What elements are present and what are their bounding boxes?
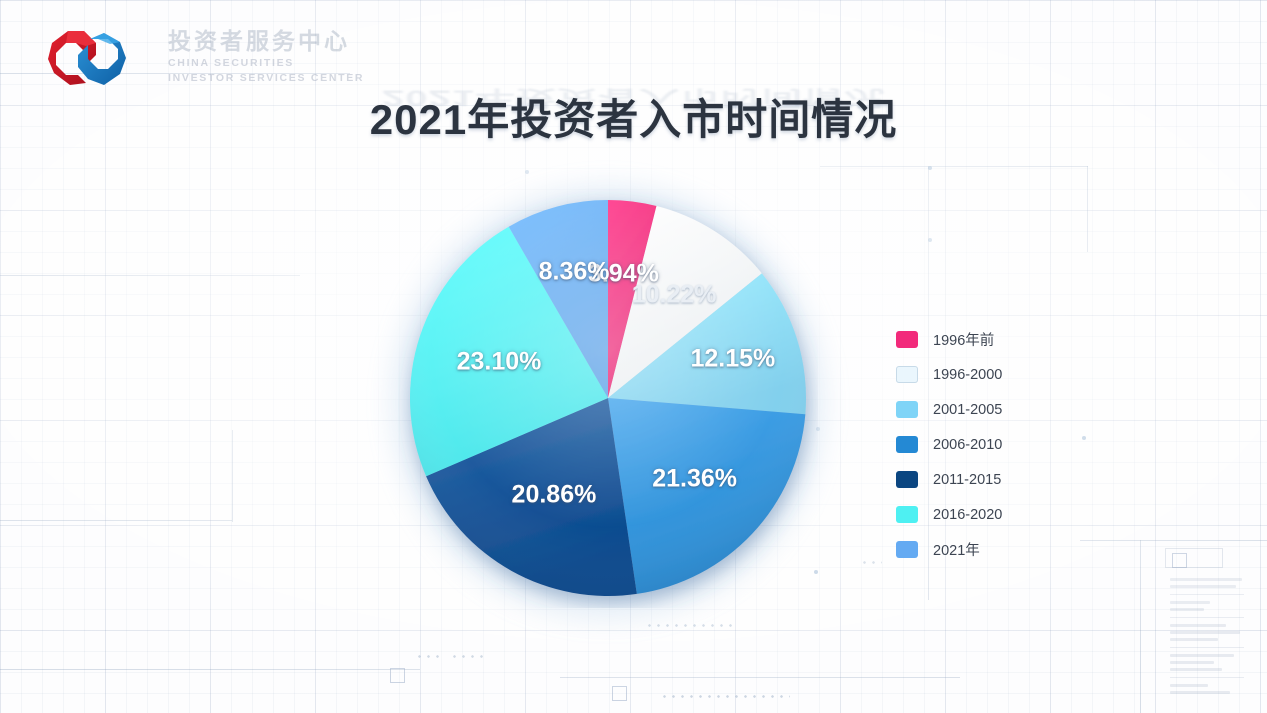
legend-color-swatch xyxy=(896,401,918,418)
background-dot-row-2 xyxy=(415,655,443,658)
legend-item-label: 2016-2020 xyxy=(933,507,1002,523)
legend-item[interactable]: 2021年 xyxy=(896,532,1076,567)
legend-color-swatch xyxy=(896,506,918,523)
legend-color-swatch xyxy=(896,331,918,348)
brand-name-en-line1: CHINA SECURITIES xyxy=(168,56,378,71)
background-checkbox-3 xyxy=(612,686,627,701)
background-line-v2 xyxy=(1087,166,1088,252)
csisc-logo-icon xyxy=(46,28,128,90)
background-line-v3 xyxy=(232,430,233,522)
pie-chart-svg[interactable] xyxy=(398,188,818,608)
legend-item[interactable]: 2016-2020 xyxy=(896,497,1076,532)
legend-item-label: 2021年 xyxy=(933,539,980,560)
background-line-h2 xyxy=(820,166,1088,167)
background-dot-row-4 xyxy=(860,561,882,564)
background-line-h5 xyxy=(0,669,420,670)
legend-item-label: 2006-2010 xyxy=(933,437,1002,453)
background-checkbox-1 xyxy=(1172,553,1187,568)
background-line-h4 xyxy=(0,520,232,521)
background-line-h6 xyxy=(560,677,960,678)
legend-item[interactable]: 1996-2000 xyxy=(896,357,1076,392)
background-line-h7 xyxy=(1080,540,1267,541)
legend-item[interactable]: 1996年前 xyxy=(896,322,1076,357)
background-dot-row-5 xyxy=(660,695,790,698)
legend-color-swatch xyxy=(896,471,918,488)
legend-color-swatch xyxy=(896,366,918,383)
legend-item-label: 1996年前 xyxy=(933,329,994,350)
background-dot-row-3 xyxy=(450,655,486,658)
background-line-v4 xyxy=(1140,540,1141,713)
pie-slice[interactable] xyxy=(608,398,805,594)
legend-color-swatch xyxy=(896,541,918,558)
legend-item-label: 2001-2005 xyxy=(933,402,1002,418)
background-node-4 xyxy=(1082,436,1086,440)
background-checkbox-2 xyxy=(390,668,405,683)
pie-chart: 3.94%10.22%12.15%21.36%20.86%23.10%8.36% xyxy=(398,188,818,608)
page-title: 2021年投资者入市时间情况 xyxy=(0,86,1267,147)
background-document-text xyxy=(1170,578,1244,698)
background-node-3 xyxy=(928,238,932,242)
background-box-1 xyxy=(1165,548,1223,568)
brand-logo: 投资者服务中心 CHINA SECURITIES INVESTOR SERVIC… xyxy=(36,22,366,94)
legend-item-label: 1996-2000 xyxy=(933,367,1002,383)
legend-item-label: 2011-2015 xyxy=(933,472,1001,488)
background-dot-row-1 xyxy=(645,624,737,627)
legend-item[interactable]: 2011-2015 xyxy=(896,462,1076,497)
legend-item[interactable]: 2001-2005 xyxy=(896,392,1076,427)
brand-name-cn: 投资者服务中心 xyxy=(168,26,378,56)
chart-legend: 1996年前1996-20002001-20052006-20102011-20… xyxy=(896,322,1076,567)
brand-wordmark: 投资者服务中心 CHINA SECURITIES INVESTOR SERVIC… xyxy=(168,26,378,86)
background-line-h3 xyxy=(0,275,300,276)
brand-name-en-line2: INVESTOR SERVICES CENTER xyxy=(168,71,378,86)
legend-color-swatch xyxy=(896,436,918,453)
background-node-2 xyxy=(928,166,932,170)
legend-item[interactable]: 2006-2010 xyxy=(896,427,1076,462)
background-node-1 xyxy=(525,170,529,174)
slide-canvas: 投资者服务中心 CHINA SECURITIES INVESTOR SERVIC… xyxy=(0,0,1267,713)
